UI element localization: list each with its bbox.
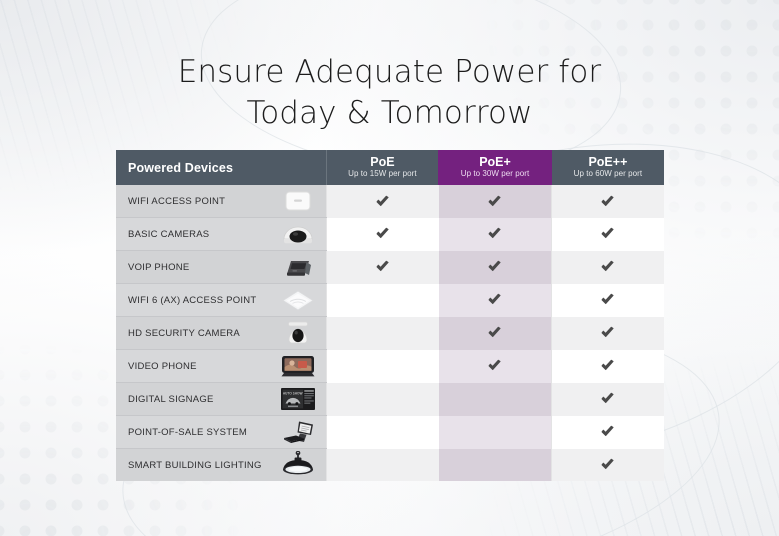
support-cell-poe-plus — [439, 185, 552, 218]
table-row: VIDEO PHONE — [116, 350, 664, 383]
column-header-poe-plus-plus-name: PoE++ — [552, 156, 664, 169]
support-cell-poe — [326, 416, 439, 449]
check-icon — [600, 259, 615, 274]
device-label: HD SECURITY CAMERA — [128, 328, 240, 339]
support-cell-poe-plus-plus — [551, 185, 664, 218]
svg-text:AUTO SHOW: AUTO SHOW — [283, 391, 302, 395]
check-icon — [487, 358, 502, 373]
support-cell-poe-plus-plus — [551, 449, 664, 482]
poe-comparison-table-wrapper: Powered Devices PoE Up to 15W per port P… — [116, 150, 664, 481]
device-cell: WIFI 6 (AX) ACCESS POINT — [116, 284, 326, 317]
check-icon — [600, 391, 615, 406]
support-cell-poe-plus — [439, 284, 552, 317]
support-cell-poe — [326, 251, 439, 284]
device-cell: SMART BUILDING LIGHTING — [116, 449, 326, 482]
device-cell: HD SECURITY CAMERA — [116, 317, 326, 350]
support-cell-poe-plus-plus — [551, 416, 664, 449]
support-cell-poe-plus — [439, 416, 552, 449]
column-header-poe-plus: PoE+ Up to 30W per port — [439, 150, 552, 185]
device-label: WIFI 6 (AX) ACCESS POINT — [128, 295, 256, 306]
device-cell: VIDEO PHONE — [116, 350, 326, 383]
table-row: VOIP PHONE — [116, 251, 664, 284]
support-cell-poe — [326, 284, 439, 317]
check-icon — [600, 226, 615, 241]
support-cell-poe — [326, 449, 439, 482]
video-phone-icon — [278, 352, 318, 380]
device-label: VOIP PHONE — [128, 262, 189, 273]
support-cell-poe — [326, 317, 439, 350]
table-row: WIFI ACCESS POINT — [116, 185, 664, 218]
check-icon — [487, 226, 502, 241]
check-icon — [600, 325, 615, 340]
device-label: DIGITAL SIGNAGE — [128, 394, 214, 405]
check-icon — [600, 358, 615, 373]
support-cell-poe-plus — [439, 383, 552, 416]
table-row: BASIC CAMERAS — [116, 218, 664, 251]
table-row: POINT-OF-SALE SYSTEM — [116, 416, 664, 449]
device-cell: DIGITAL SIGNAGE AUTO SHOW — [116, 383, 326, 416]
column-header-powered-devices: Powered Devices — [116, 150, 326, 185]
check-icon — [600, 194, 615, 209]
check-icon — [375, 226, 390, 241]
support-cell-poe-plus — [439, 317, 552, 350]
table-header: Powered Devices PoE Up to 15W per port P… — [116, 150, 664, 185]
turret-camera-icon — [278, 319, 318, 347]
support-cell-poe-plus-plus — [551, 350, 664, 383]
page-title: Ensure Adequate Power for Today & Tomorr… — [0, 52, 779, 134]
check-icon — [375, 259, 390, 274]
support-cell-poe-plus-plus — [551, 383, 664, 416]
voip-phone-icon — [278, 253, 318, 281]
support-cell-poe-plus — [439, 449, 552, 482]
device-cell: BASIC CAMERAS — [116, 218, 326, 251]
column-header-poe-plus-sub: Up to 30W per port — [439, 170, 551, 179]
table-row: HD SECURITY CAMERA — [116, 317, 664, 350]
device-label: SMART BUILDING LIGHTING — [128, 460, 262, 471]
table-row: WIFI 6 (AX) ACCESS POINT — [116, 284, 664, 317]
highbay-light-icon — [278, 451, 318, 479]
table-row: SMART BUILDING LIGHTING — [116, 449, 664, 482]
poe-comparison-table: Powered Devices PoE Up to 15W per port P… — [116, 150, 664, 481]
table-header-row: Powered Devices PoE Up to 15W per port P… — [116, 150, 664, 185]
check-icon — [487, 325, 502, 340]
support-cell-poe — [326, 218, 439, 251]
device-cell: POINT-OF-SALE SYSTEM — [116, 416, 326, 449]
check-icon — [487, 259, 502, 274]
column-header-poe-plus-plus-sub: Up to 60W per port — [552, 170, 664, 179]
check-icon — [600, 292, 615, 307]
support-cell-poe — [326, 383, 439, 416]
page-title-line-1: Ensure Adequate Power for — [178, 54, 602, 90]
support-cell-poe — [326, 350, 439, 383]
device-label: POINT-OF-SALE SYSTEM — [128, 427, 247, 438]
support-cell-poe-plus-plus — [551, 218, 664, 251]
page-title-line-2: Today & Tomorrow — [0, 93, 779, 134]
check-icon — [600, 424, 615, 439]
device-cell: VOIP PHONE — [116, 251, 326, 284]
device-label: VIDEO PHONE — [128, 361, 197, 372]
column-header-poe-plus-plus: PoE++ Up to 60W per port — [551, 150, 664, 185]
table-body: WIFI ACCESS POINT BASIC CAMERAS VOIP PHO… — [116, 185, 664, 481]
column-header-poe-plus-name: PoE+ — [439, 156, 551, 169]
support-cell-poe-plus — [439, 251, 552, 284]
support-cell-poe — [326, 185, 439, 218]
support-cell-poe-plus — [439, 218, 552, 251]
device-label: BASIC CAMERAS — [128, 229, 209, 240]
support-cell-poe-plus-plus — [551, 284, 664, 317]
point-of-sale-icon — [278, 418, 318, 446]
digital-signage-icon: AUTO SHOW — [278, 385, 318, 413]
table-row: DIGITAL SIGNAGE AUTO SHOW — [116, 383, 664, 416]
check-icon — [375, 194, 390, 209]
column-header-poe-name: PoE — [327, 156, 439, 169]
wifi-access-point-icon — [278, 187, 318, 215]
dome-camera-icon — [278, 220, 318, 248]
device-label: WIFI ACCESS POINT — [128, 196, 225, 207]
check-icon — [487, 194, 502, 209]
column-header-poe-sub: Up to 15W per port — [327, 170, 439, 179]
wifi6-access-point-icon — [278, 286, 318, 314]
device-cell: WIFI ACCESS POINT — [116, 185, 326, 218]
column-header-poe: PoE Up to 15W per port — [326, 150, 439, 185]
support-cell-poe-plus — [439, 350, 552, 383]
support-cell-poe-plus-plus — [551, 251, 664, 284]
support-cell-poe-plus-plus — [551, 317, 664, 350]
check-icon — [600, 457, 615, 472]
check-icon — [487, 292, 502, 307]
